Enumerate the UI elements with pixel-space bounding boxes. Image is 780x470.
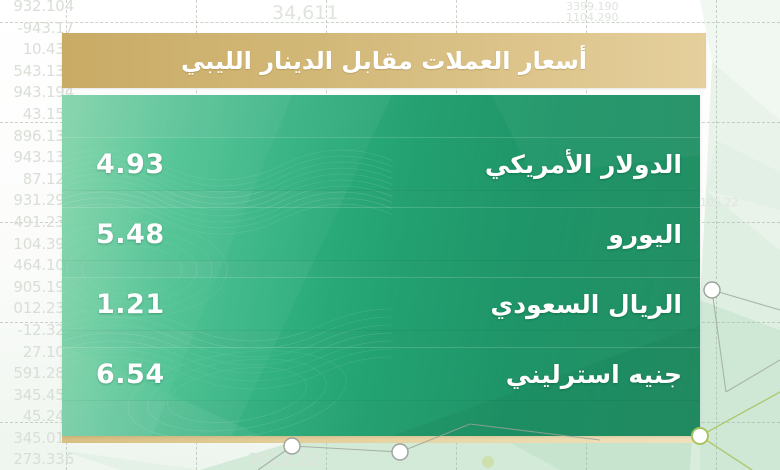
- rates-card: أسعار العملات مقابل الدينار الليبي: [62, 33, 706, 443]
- currency-name: جنيه استرليني: [506, 360, 682, 389]
- currency-rate: 1.21: [96, 289, 165, 320]
- currency-name: الدولار الأمريكي: [485, 150, 682, 179]
- currency-rate: 6.54: [96, 359, 165, 390]
- currency-rate: 5.48: [96, 219, 165, 250]
- table-row[interactable]: الدولار الأمريكي4.93: [62, 137, 700, 191]
- page-title: أسعار العملات مقابل الدينار الليبي: [181, 47, 587, 75]
- currency-name: الريال السعودي: [490, 290, 682, 319]
- background-number: 932.104: [2, 0, 74, 18]
- background-floating-number: 34,611: [272, 2, 338, 24]
- background-floating-number: 2012.22: [248, 450, 318, 470]
- currency-rate: 4.93: [96, 149, 165, 180]
- currency-name: اليورو: [608, 220, 682, 249]
- rates-row-list: الدولار الأمريكي4.93اليورو5.48الريال الس…: [62, 95, 700, 436]
- currency-rates-infographic: 932.104-943.1710.432543.133943.19443.156…: [0, 0, 780, 470]
- card-footer-bar: [62, 436, 710, 443]
- table-row[interactable]: اليورو5.48: [62, 207, 700, 261]
- table-row[interactable]: جنيه استرليني6.54: [62, 347, 700, 401]
- rates-panel: الدولار الأمريكي4.93اليورو5.48الريال الس…: [62, 95, 700, 436]
- card-header: أسعار العملات مقابل الدينار الليبي: [62, 33, 706, 88]
- background-number: 273.336: [2, 449, 74, 470]
- background-floating-number: 1104.290: [566, 11, 619, 24]
- table-row[interactable]: الريال السعودي1.21: [62, 277, 700, 331]
